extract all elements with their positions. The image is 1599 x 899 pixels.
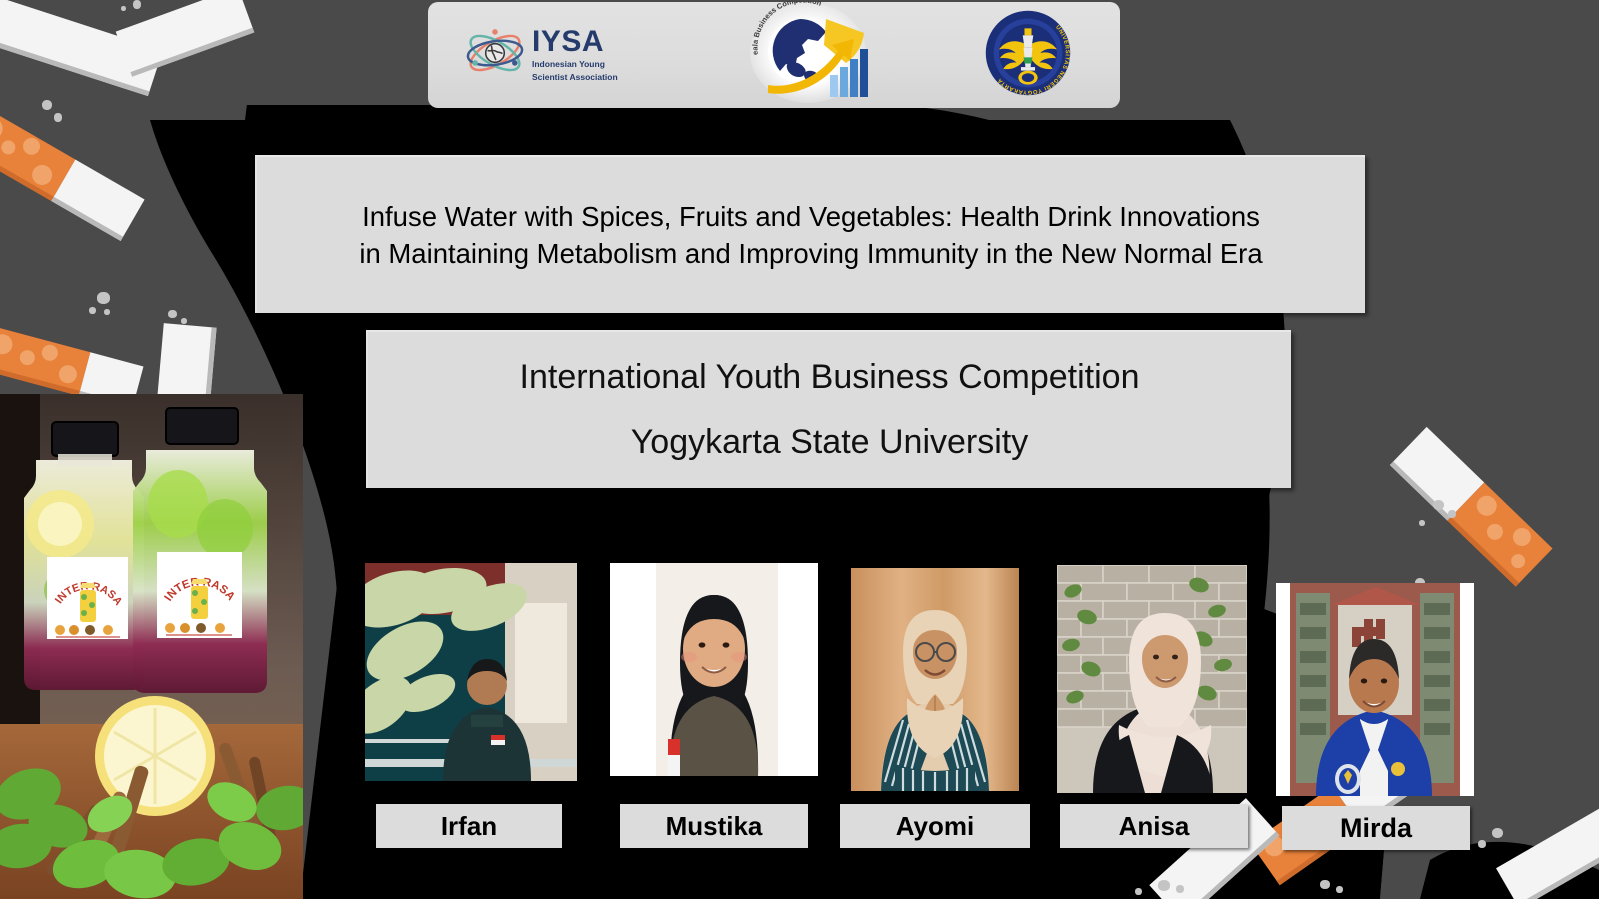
cigarette-crumb — [1419, 520, 1425, 526]
mustika-portrait — [610, 563, 818, 776]
iysa-fullname-line2: Scientist Association — [532, 72, 618, 83]
title-line-1: Infuse Water with Spices, Fruits and Veg… — [359, 198, 1262, 235]
cigarette-crumb — [1158, 880, 1170, 891]
cigarette-crumb — [104, 309, 110, 315]
irfan-portrait — [365, 563, 577, 781]
team-name-label: Mustika — [666, 811, 763, 842]
iysa-wordmark: IYSA Indonesian Young Scientist Associat… — [532, 27, 618, 82]
cigarette-crumb — [54, 113, 62, 122]
team-name-label: Ayomi — [896, 811, 975, 842]
cigarette-crumb — [1336, 886, 1343, 893]
mirda-portrait — [1276, 583, 1474, 796]
team-name-box-mustika: Mustika — [620, 804, 808, 848]
team-photo-mirda — [1276, 583, 1474, 796]
globe-chart-arrow-icon: eala Business Competition — [746, 1, 878, 110]
team-name-box-irfan: Irfan — [376, 804, 562, 848]
cigarette-crumb — [89, 307, 96, 314]
team-name-label: Anisa — [1119, 811, 1190, 842]
cigarette-crumb — [97, 292, 110, 304]
team-photo-mustika — [610, 563, 818, 776]
product-photo-illustration: INTER RASA INTER RASA — [0, 394, 303, 899]
cigarette-crumb — [1492, 828, 1503, 838]
team-name-label: Mirda — [1340, 813, 1412, 844]
team-photo-anisa — [1057, 565, 1247, 793]
team-name-box-anisa: Anisa — [1060, 804, 1248, 848]
event-venue: Yogykarta State University — [631, 424, 1029, 461]
iybc-logo: eala Business Competition — [737, 3, 887, 107]
page-title: Infuse Water with Spices, Fruits and Veg… — [341, 198, 1280, 272]
cigarette-crumb — [1478, 840, 1486, 848]
team-name-box-ayomi: Ayomi — [840, 804, 1030, 848]
cigarette-crumb — [1320, 880, 1330, 889]
title-line-2: in Maintaining Metabolism and Improving … — [359, 235, 1262, 272]
cigarette-crumb — [1448, 510, 1456, 518]
product-label-left: INTER RASA — [47, 557, 128, 639]
poster-title-panel: Infuse Water with Spices, Fruits and Veg… — [255, 155, 1365, 313]
product-label-right: INTER RASA — [157, 552, 242, 638]
team-photo-ayomi — [851, 568, 1019, 791]
product-photo: INTER RASA INTER RASA — [0, 394, 303, 899]
bottle-left — [24, 422, 144, 690]
cigarette-crumb — [1433, 500, 1444, 510]
cigarette-crumb — [121, 6, 126, 11]
sponsor-logo-bar: IYSA Indonesian Young Scientist Associat… — [428, 2, 1120, 108]
event-name: International Youth Business Competition — [520, 359, 1140, 396]
university-seal-icon: UNIVERSITAS NEGERI YOGYAKARTA — [984, 84, 1072, 101]
event-info-panel: International Youth Business Competition… — [366, 330, 1291, 488]
iysa-logo: IYSA Indonesian Young Scientist Associat… — [464, 22, 639, 89]
cigarette-crumb — [133, 0, 141, 9]
anisa-portrait — [1057, 565, 1247, 793]
team-name-box-mirda: Mirda — [1282, 806, 1470, 850]
poster-canvas: IYSA Indonesian Young Scientist Associat… — [0, 0, 1599, 899]
cigarette-crumb — [42, 100, 52, 110]
iysa-acronym: IYSA — [532, 27, 618, 57]
iysa-fullname-line1: Indonesian Young — [532, 59, 618, 70]
atom-globe-icon — [464, 22, 526, 89]
team-name-label: Irfan — [441, 811, 497, 842]
cigarette-crumb — [168, 310, 177, 318]
cigarette-crumb — [181, 318, 187, 324]
uny-logo: UNIVERSITAS NEGERI YOGYAKARTA — [984, 9, 1084, 102]
bottle-right — [133, 408, 267, 693]
cigarette-crumb — [1135, 888, 1142, 895]
team-photo-irfan — [365, 563, 577, 781]
ayomi-portrait — [851, 568, 1019, 791]
cigarette-crumb — [1176, 885, 1184, 893]
